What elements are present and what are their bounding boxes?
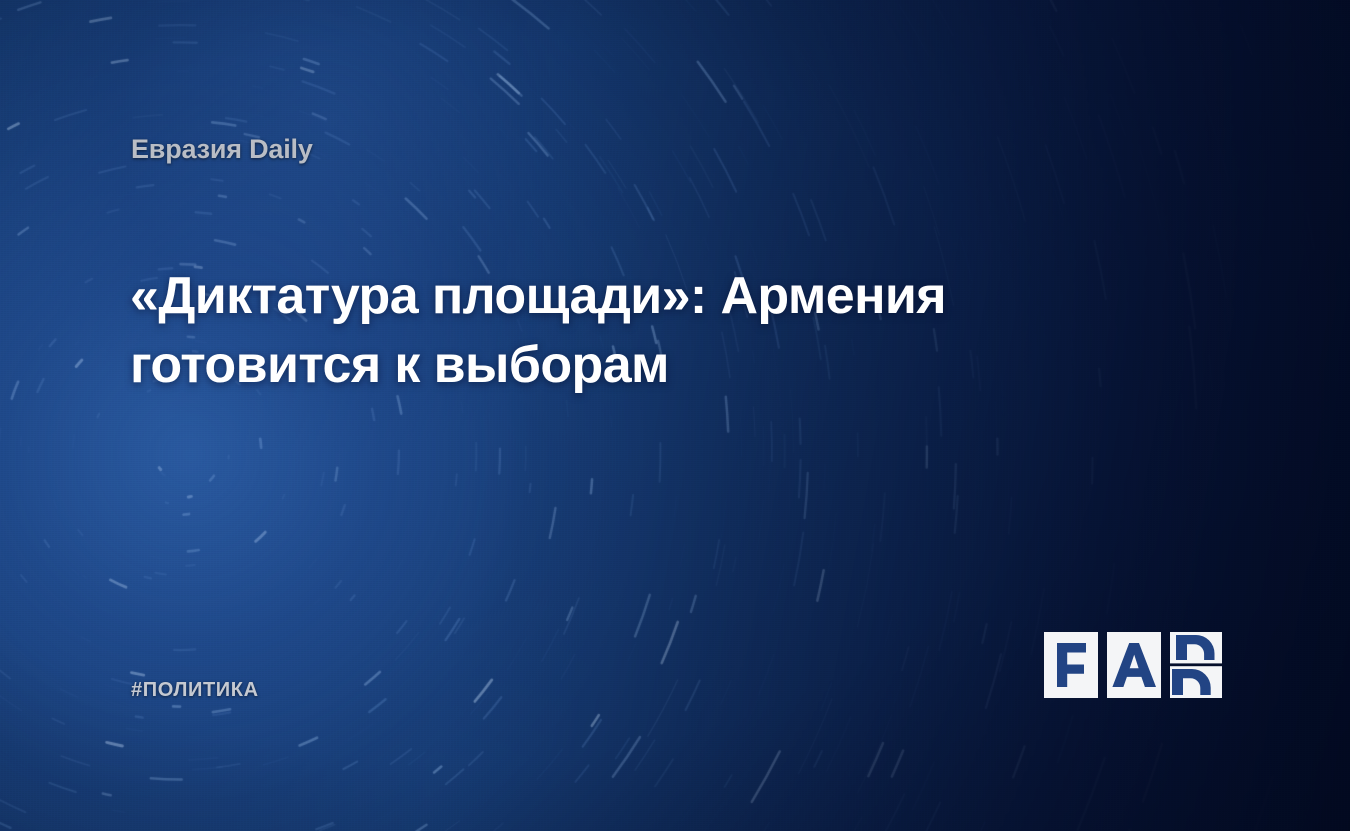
logo-tile-e	[1044, 632, 1098, 698]
category-tag: #ПОЛИТИКА	[131, 679, 259, 702]
logo-tile-a	[1107, 632, 1161, 698]
brand-name: Евразия Daily	[131, 134, 313, 165]
share-card: Евразия Daily «Диктатура площади»: Армен…	[0, 0, 1350, 831]
headline-line-1: «Диктатура площади»: Армения	[130, 262, 1030, 331]
headline-line-2: готовится к выборам	[130, 331, 1030, 400]
card-content: Евразия Daily «Диктатура площади»: Армен…	[0, 0, 1350, 831]
ead-logo	[1044, 632, 1224, 700]
logo-tile-d	[1170, 632, 1222, 698]
page-title: «Диктатура площади»: Армения готовится к…	[130, 262, 1030, 400]
